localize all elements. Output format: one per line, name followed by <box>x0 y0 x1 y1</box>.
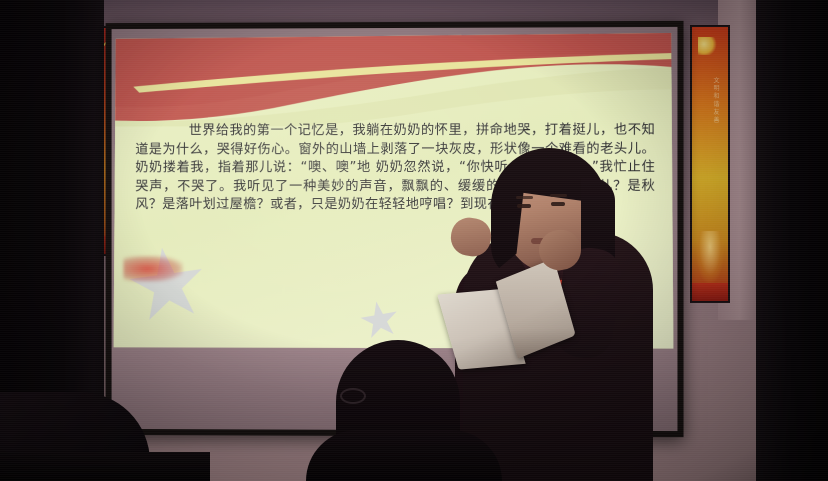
audience-member-center-shoulders <box>306 430 502 481</box>
sunburst-icon <box>698 37 718 55</box>
wall-banner-right-footer <box>692 283 728 301</box>
presenter-eye-right <box>551 202 565 206</box>
screenshot-root: ☭ 党 建 文 明 和 谐 友 善 <box>0 0 828 481</box>
dark-area-right <box>756 0 828 481</box>
presenter-eyebrow-left <box>516 196 533 199</box>
presenter <box>455 152 660 481</box>
audience-member-left-shoulders <box>0 452 210 481</box>
star-large-icon: ★ <box>118 230 216 337</box>
presenter-eyebrow-right <box>550 194 567 197</box>
presenter-eye-left <box>517 204 531 208</box>
eyeglasses-icon <box>340 388 366 404</box>
wall-banner-right-text: 文 明 和 谐 友 善 <box>699 77 721 123</box>
banner-figure-graphic <box>696 231 724 283</box>
projector-red-flare <box>123 256 182 282</box>
slide-header-wave <box>114 33 674 127</box>
wall-banner-right: 文 明 和 谐 友 善 <box>690 25 730 303</box>
